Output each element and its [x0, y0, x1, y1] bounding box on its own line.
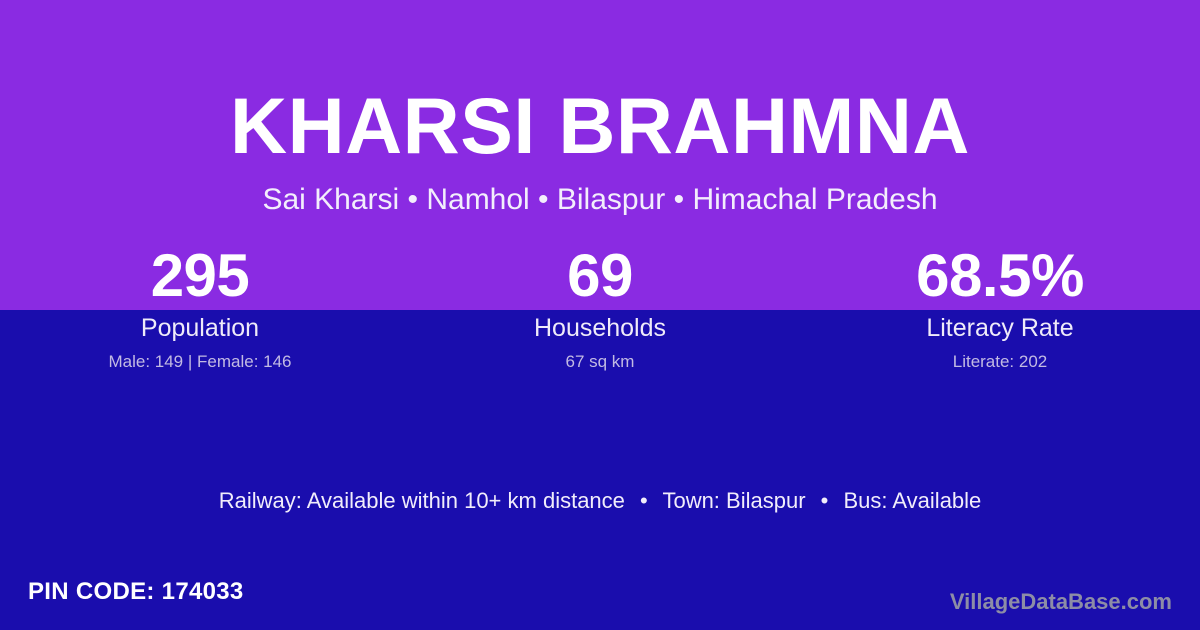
page-title: KHARSI BRAHMNA: [0, 86, 1200, 165]
village-info-card: KHARSI BRAHMNA Sai Kharsi • Namhol • Bil…: [0, 0, 1200, 630]
site-branding: VillageDataBase.com: [950, 588, 1172, 616]
stat-label: Population: [0, 313, 400, 343]
stat-sublabel: Literate: 202: [800, 351, 1200, 373]
stat-value: 295: [0, 243, 400, 309]
bullet-separator-icon: •: [631, 488, 657, 513]
stat-sublabel: Male: 149 | Female: 146: [0, 351, 400, 373]
transport-info-line: Railway: Available within 10+ km distanc…: [0, 487, 1200, 515]
stat-label: Households: [400, 313, 800, 343]
stat-value: 69: [400, 243, 800, 309]
town-info: Town: Bilaspur: [662, 488, 805, 513]
railway-info: Railway: Available within 10+ km distanc…: [219, 488, 625, 513]
card-content: KHARSI BRAHMNA Sai Kharsi • Namhol • Bil…: [0, 0, 1200, 630]
stat-value: 68.5%: [800, 243, 1200, 309]
stats-row: 295 Population Male: 149 | Female: 146 6…: [0, 243, 1200, 373]
stat-households: 69 Households 67 sq km: [400, 243, 800, 373]
bus-info: Bus: Available: [843, 488, 981, 513]
stat-literacy-rate: 68.5% Literacy Rate Literate: 202: [800, 243, 1200, 373]
breadcrumb: Sai Kharsi • Namhol • Bilaspur • Himacha…: [0, 182, 1200, 218]
bullet-separator-icon: •: [812, 488, 838, 513]
stat-population: 295 Population Male: 149 | Female: 146: [0, 243, 400, 373]
pin-code: PIN CODE: 174033: [28, 577, 244, 607]
stat-label: Literacy Rate: [800, 313, 1200, 343]
stat-sublabel: 67 sq km: [400, 351, 800, 373]
